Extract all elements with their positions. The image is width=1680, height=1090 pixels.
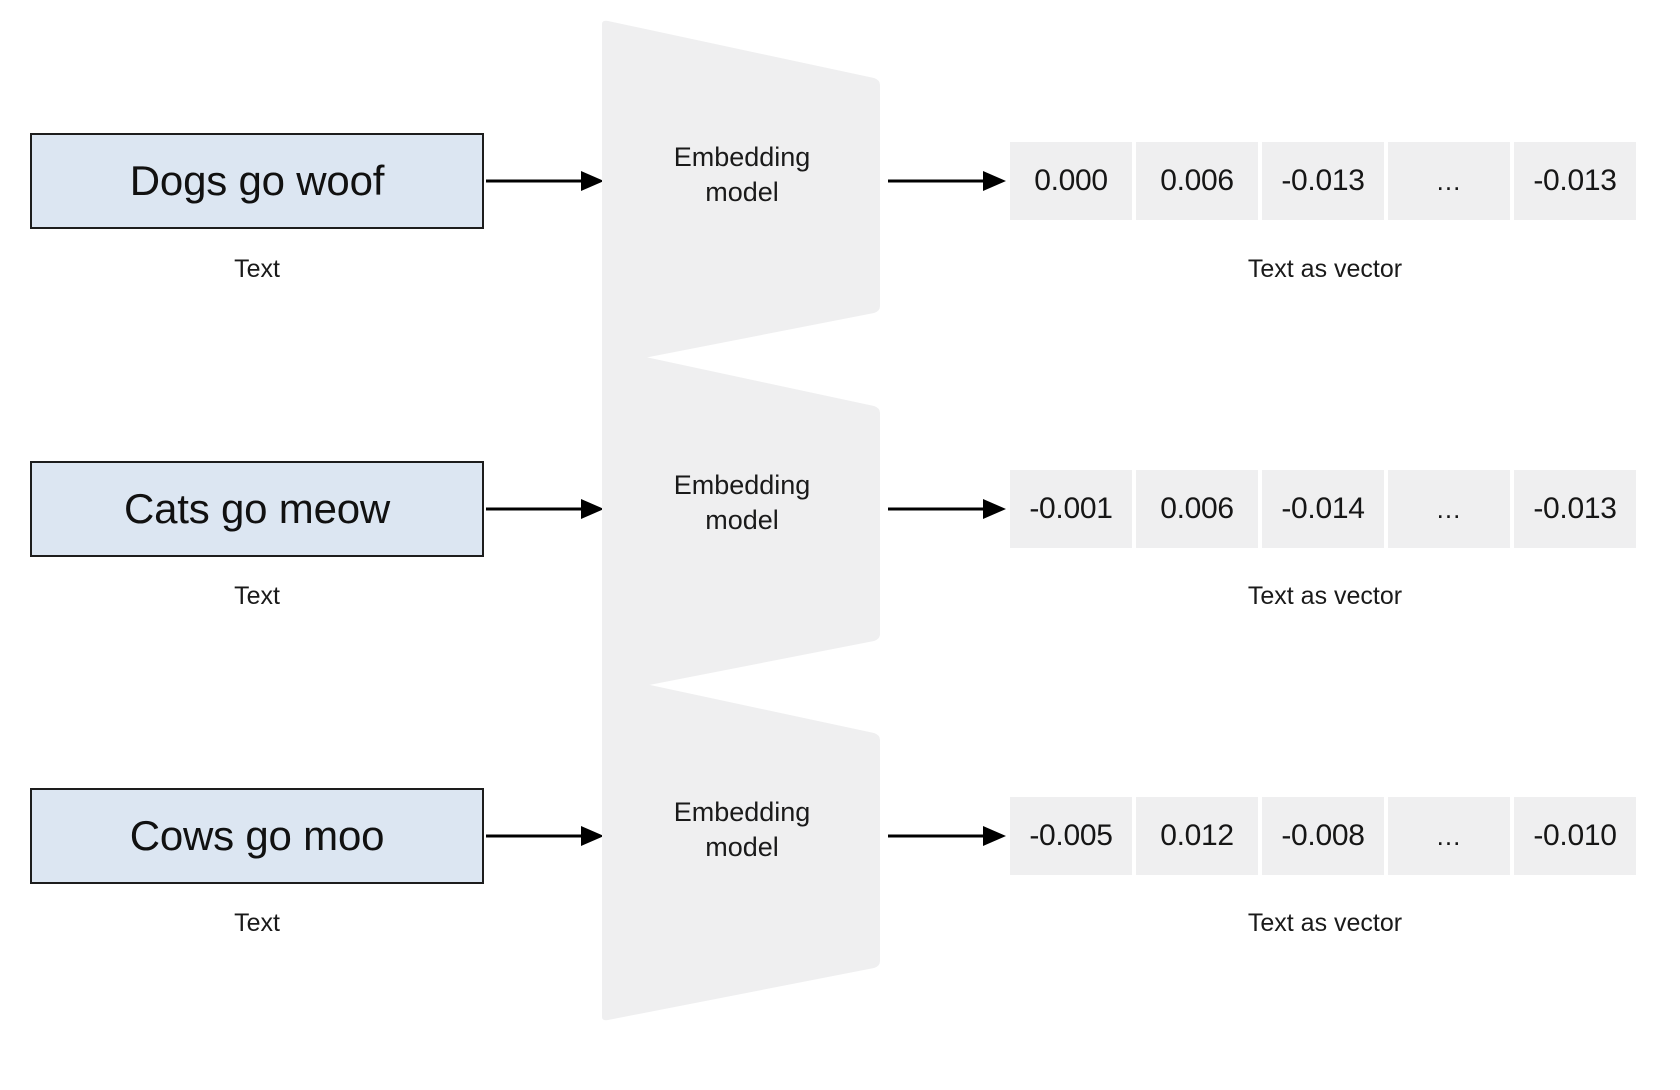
vector-cell: -0.010 (1514, 797, 1636, 875)
vector-row-1: 0.000 0.006 -0.013 ... -0.013 (1010, 142, 1636, 220)
embedding-model-label-1: Embedding model (600, 140, 884, 209)
arrow-model-to-vector-1 (888, 165, 1006, 197)
vector-cell: -0.005 (1010, 797, 1132, 875)
vector-row-3: -0.005 0.012 -0.008 ... -0.010 (1010, 797, 1636, 875)
input-caption-2: Text (30, 582, 484, 611)
arrow-input-to-model-1 (486, 165, 604, 197)
vector-cell: -0.008 (1262, 797, 1384, 875)
vector-cell: -0.013 (1262, 142, 1384, 220)
vector-cell-ellipsis: ... (1388, 470, 1510, 548)
output-caption-3: Text as vector (1010, 909, 1640, 938)
vector-cell-ellipsis: ... (1388, 142, 1510, 220)
input-text-label-1: Dogs go woof (130, 160, 384, 202)
output-caption-2: Text as vector (1010, 582, 1640, 611)
vector-cell: 0.006 (1136, 142, 1258, 220)
arrow-input-to-model-3 (486, 820, 604, 852)
input-text-label-3: Cows go moo (130, 815, 385, 857)
input-caption-1: Text (30, 255, 484, 284)
vector-cell: 0.000 (1010, 142, 1132, 220)
arrow-input-to-model-2 (486, 493, 604, 525)
input-text-box-2[interactable]: Cats go meow (30, 461, 484, 557)
vector-cell: 0.006 (1136, 470, 1258, 548)
diagram-canvas: Dogs go woof Text Embedding model 0.000 … (0, 0, 1680, 1090)
embedding-model-label-2: Embedding model (600, 468, 884, 537)
arrow-model-to-vector-3 (888, 820, 1006, 852)
output-caption-1: Text as vector (1010, 255, 1640, 284)
embedding-model-label-3: Embedding model (600, 795, 884, 864)
input-caption-3: Text (30, 909, 484, 938)
input-text-box-1[interactable]: Dogs go woof (30, 133, 484, 229)
vector-cell: -0.013 (1514, 470, 1636, 548)
vector-cell: 0.012 (1136, 797, 1258, 875)
input-text-label-2: Cats go meow (124, 488, 390, 530)
vector-cell: -0.013 (1514, 142, 1636, 220)
vector-cell: -0.001 (1010, 470, 1132, 548)
input-text-box-3[interactable]: Cows go moo (30, 788, 484, 884)
vector-cell: -0.014 (1262, 470, 1384, 548)
vector-row-2: -0.001 0.006 -0.014 ... -0.013 (1010, 470, 1636, 548)
vector-cell-ellipsis: ... (1388, 797, 1510, 875)
arrow-model-to-vector-2 (888, 493, 1006, 525)
